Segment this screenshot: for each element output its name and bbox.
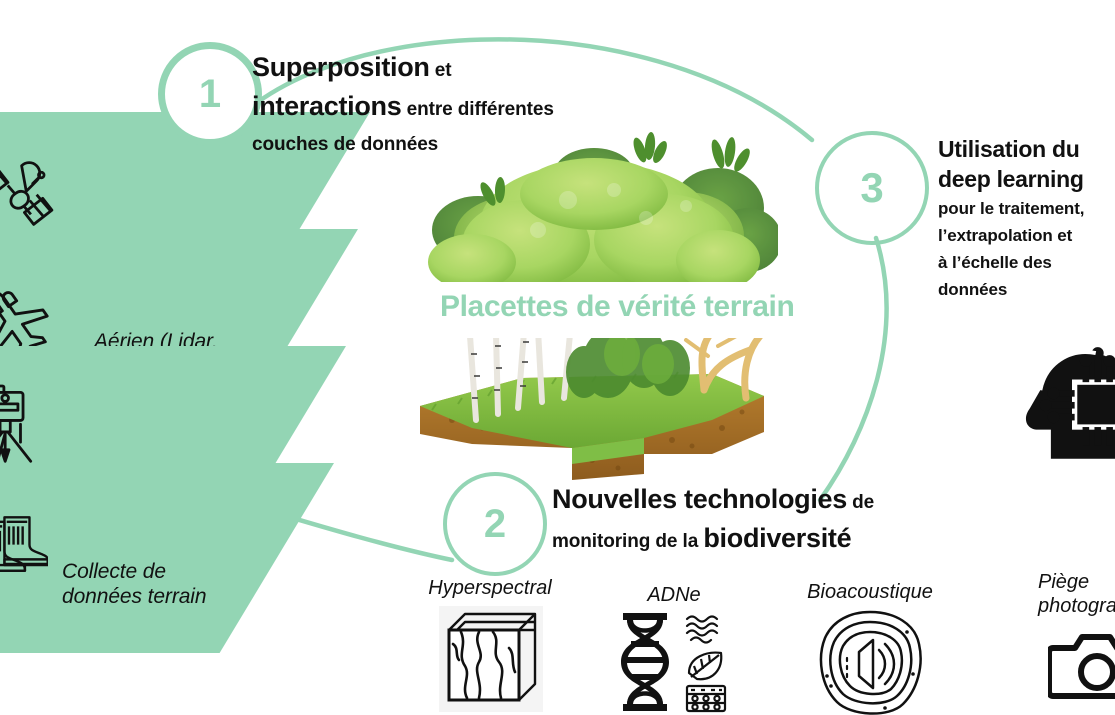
step-1-l1-a: Superposition (252, 52, 430, 82)
center-caption: Placettes de vérité terrain (440, 290, 794, 324)
arc-step3-to-step2 (820, 238, 887, 500)
camera-trap-glyph (1048, 630, 1115, 700)
layer-label: Collecte de données terrain (62, 559, 206, 609)
step-2-text: Nouvelles technologies de monitoring de … (552, 482, 1022, 560)
step-1-line-2: interactions entre différentes (252, 89, 652, 128)
step-3-l5: à l’échelle des (938, 253, 1052, 272)
bioacoustic-speaker-icon (780, 608, 960, 715)
step-1-text: Superposition et interactions entre diff… (252, 50, 652, 163)
ai-brain-chip-icon (1006, 332, 1115, 460)
step-3-line-1: Utilisation du (938, 136, 1115, 166)
step-1-l2-b: entre différentes (401, 99, 553, 120)
tech-label: ADNe (604, 583, 744, 607)
step-1-line-1: Superposition et (252, 50, 652, 89)
step-3-line-5: à l’échelle des (938, 250, 1115, 277)
tech-bioacoustique[interactable]: Bioacoustique (780, 580, 960, 715)
step-1-l2-a: interactions (252, 91, 401, 121)
dna-edna-icon (604, 611, 744, 715)
tech-label: Piège photographique (1038, 570, 1115, 618)
step-1-l1-b: et (430, 60, 452, 81)
step-3-line-2: deep learning (938, 166, 1115, 196)
infographic-canvas: Satellite Aérien (Lidar, hyperspectral) (0, 0, 1115, 715)
step-3-line-4: l’extrapolation et (938, 223, 1115, 250)
step-2-l1-a: Nouvelles technologies (552, 484, 847, 514)
step-3-l1: Utilisation du (938, 136, 1079, 162)
step-3-text: Utilisation du deep learning pour le tra… (938, 136, 1115, 326)
layer-plane-shape (0, 463, 334, 653)
hyperspectral-cube-glyph (431, 604, 549, 714)
step-2-l1-b: de (847, 492, 874, 513)
step-1-l3-a: couches de données (252, 134, 438, 155)
tech-hyperspectral[interactable]: Hyperspectral (400, 576, 580, 715)
layer-collecte[interactable]: Collecte de données terrain (0, 463, 334, 653)
step-3-l4: l’extrapolation et (938, 226, 1072, 245)
dna-edna-glyph (611, 611, 737, 713)
step-1-badge[interactable]: 1 (158, 42, 262, 146)
step-2-l2-a: monitoring de la (552, 531, 703, 552)
terrain-plot (412, 328, 792, 488)
theodolite-icon (0, 382, 46, 464)
tech-piege-photographique[interactable]: Piège photographique (1010, 570, 1115, 715)
step-3-l6: données (938, 280, 1007, 299)
step-2-number: 2 (484, 502, 506, 547)
step-3-line-3: pour le traitement, (938, 196, 1115, 223)
boots-icon (0, 515, 48, 581)
satellite-icon (0, 160, 54, 234)
step-3-line-6: données (938, 277, 1115, 304)
step-3-l3: pour le traitement, (938, 199, 1084, 218)
bioacoustic-speaker-glyph (811, 608, 929, 715)
tech-label: Hyperspectral (400, 576, 580, 600)
step-2-l2-b: biodiversité (703, 523, 851, 553)
step-2-line-2: monitoring de la biodiversité (552, 521, 1022, 560)
step-3-l2: deep learning (938, 166, 1084, 192)
step-1-line-3: couches de données (252, 128, 652, 163)
hyperspectral-cube-icon (400, 604, 580, 715)
step-3-badge[interactable]: 3 (815, 131, 929, 245)
tech-adne[interactable]: ADNe (604, 583, 744, 715)
step-3-number: 3 (860, 164, 883, 212)
camera-trap-icon (1048, 630, 1115, 705)
ai-brain-chip-glyph (1006, 332, 1115, 460)
tech-label: Bioacoustique (780, 580, 960, 604)
step-1-number: 1 (199, 72, 221, 117)
forest-ground-truth-plot: Placettes de vérité terrain (418, 120, 778, 470)
